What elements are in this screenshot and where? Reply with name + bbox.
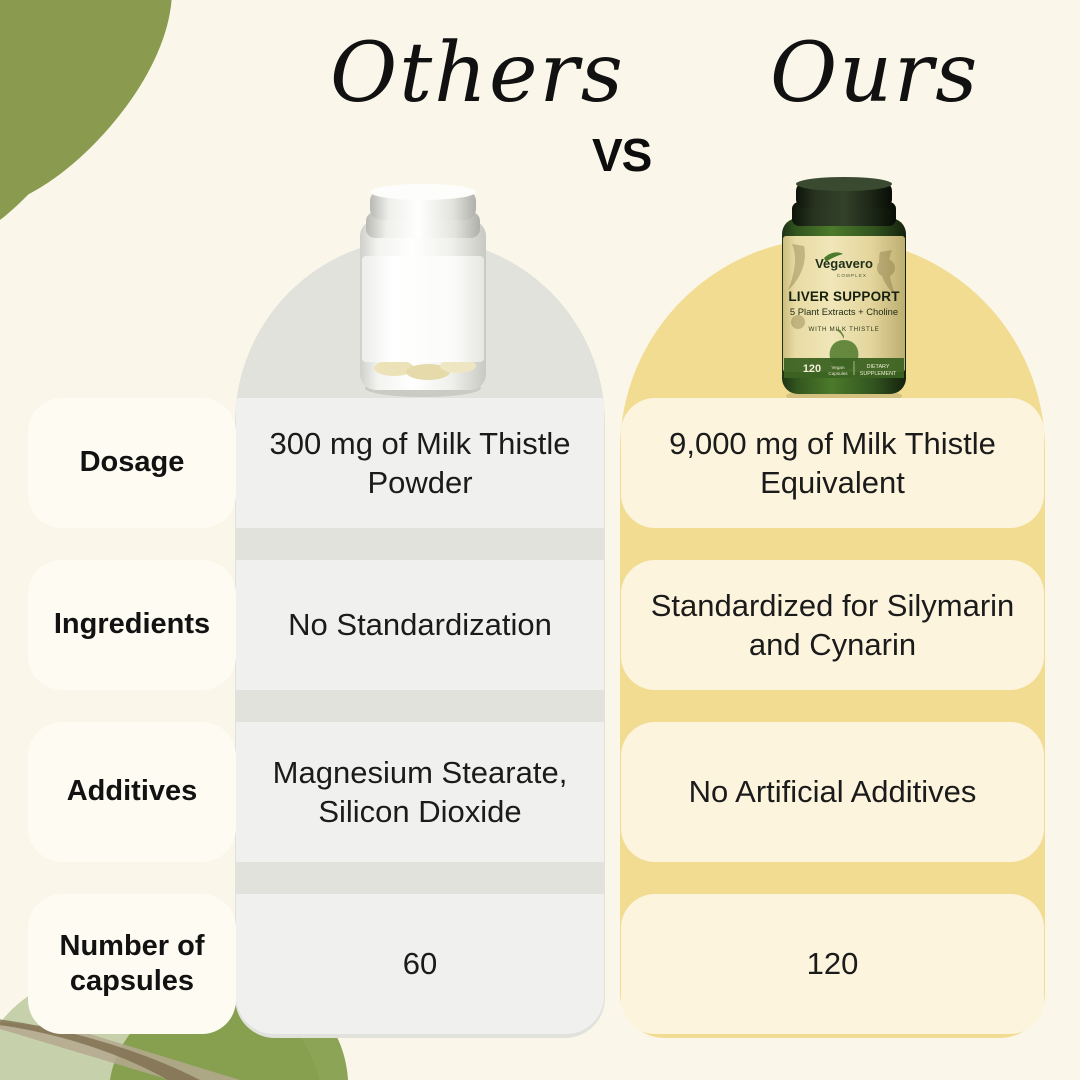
cell-others: Magnesium Stearate, Silicon Dioxide bbox=[236, 722, 604, 862]
column-title-others: Others bbox=[330, 26, 625, 121]
ours-product-bottle: Vegavero COMPLEX LIVER SUPPORT 5 Plant E… bbox=[768, 172, 920, 404]
bottle-product-subtitle: 5 Plant Extracts + Choline bbox=[790, 306, 898, 317]
bottle-brand: Vegavero bbox=[815, 256, 873, 271]
row-label: Additives bbox=[28, 722, 236, 862]
bottle-capsule-count: 120 bbox=[803, 363, 821, 375]
bottle-brand-sub: COMPLEX bbox=[837, 273, 867, 278]
vs-badge: VS bbox=[592, 128, 651, 182]
bottle-supplement-label-2: SUPPLEMENT bbox=[860, 371, 897, 377]
cell-ours: 120 bbox=[621, 894, 1044, 1034]
row-label: Ingredients bbox=[28, 560, 236, 690]
cell-others: No Standardization bbox=[236, 560, 604, 690]
bottle-supplement-label-1: DIETARY bbox=[867, 364, 890, 370]
row-label: Dosage bbox=[28, 398, 236, 528]
cell-ours: 9,000 mg of Milk Thistle Equivalent bbox=[621, 398, 1044, 528]
cell-others: 300 mg of Milk Thistle Powder bbox=[236, 398, 604, 528]
cell-others: 60 bbox=[236, 894, 604, 1034]
bottle-capsule-unit-1: Vegan bbox=[831, 365, 844, 370]
bottle-product-name: LIVER SUPPORT bbox=[788, 289, 900, 304]
cell-ours: No Artificial Additives bbox=[621, 722, 1044, 862]
column-title-ours: Ours bbox=[770, 26, 979, 121]
table-row: Ingredients No Standardization Standardi… bbox=[0, 560, 1080, 690]
table-row: Number of capsules 60 120 bbox=[0, 894, 1080, 1034]
table-row: Additives Magnesium Stearate, Silicon Di… bbox=[0, 722, 1080, 862]
page-header: Others Ours VS bbox=[0, 0, 1080, 200]
row-label: Number of capsules bbox=[28, 894, 236, 1034]
bottle-capsule-unit-2: Capsules bbox=[828, 371, 848, 376]
table-row: Dosage 300 mg of Milk Thistle Powder 9,0… bbox=[0, 398, 1080, 528]
others-product-bottle bbox=[348, 182, 498, 397]
cell-ours: Standardized for Silymarin and Cynarin bbox=[621, 560, 1044, 690]
bottle-tagline: WITH MILK THISTLE bbox=[809, 326, 880, 333]
